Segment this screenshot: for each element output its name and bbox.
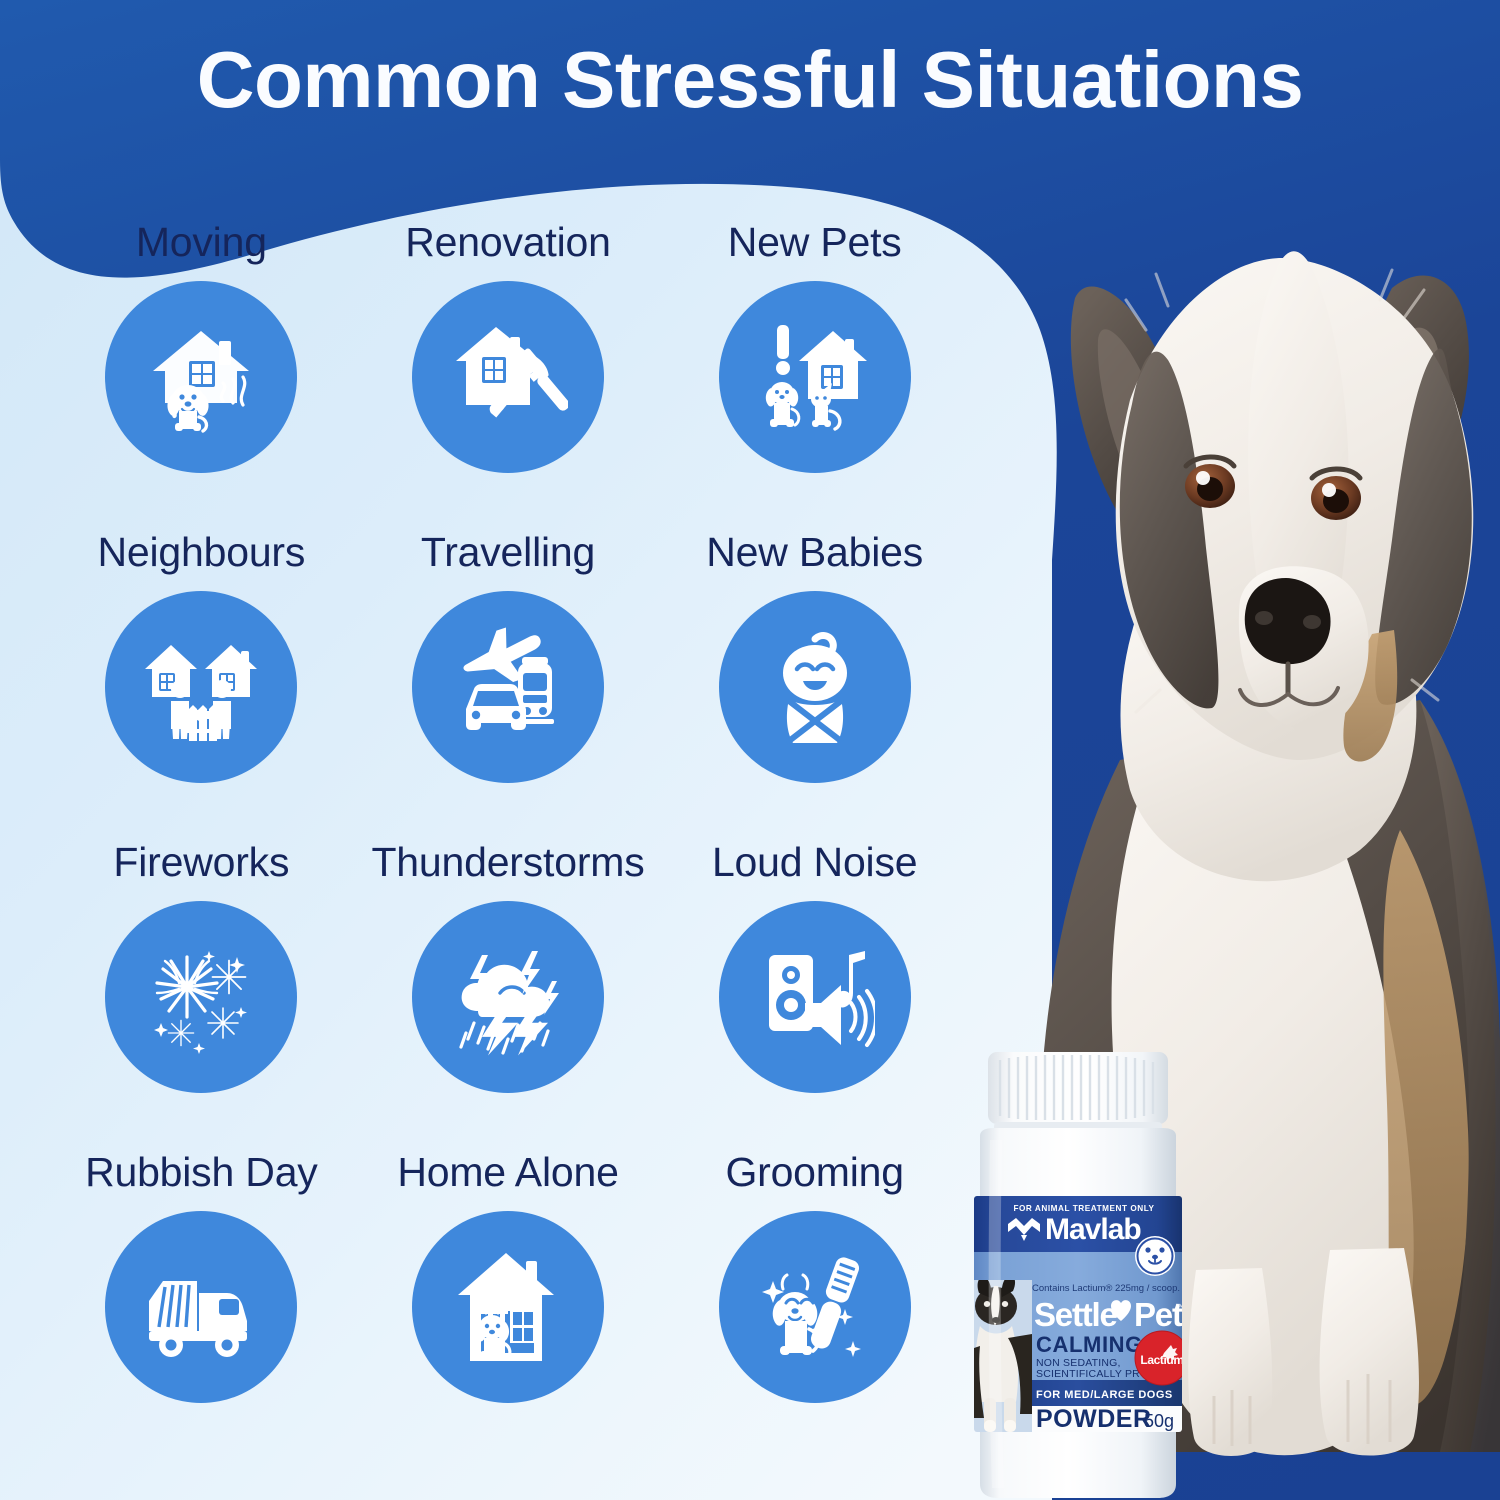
house-anxious-dog-icon — [105, 281, 297, 473]
grid-item-new-babies[interactable]: New Babies — [661, 532, 968, 842]
storm-cloud-lightning-rain-icon — [412, 901, 604, 1093]
grid-item-label: New Babies — [706, 532, 923, 573]
house-dog-cat-exclamation-icon — [719, 281, 911, 473]
brand-name: Mavlab — [1045, 1213, 1141, 1246]
lactium-badge-text: Lactium — [1140, 1353, 1183, 1367]
contains-lactium-text: Contains Lactium® 225mg / scoop. — [1032, 1283, 1180, 1294]
grid-item-moving[interactable]: Moving — [48, 222, 355, 532]
grid-item-thunderstorms[interactable]: Thunderstorms — [355, 842, 662, 1152]
dog-in-house-window-icon — [412, 1211, 604, 1403]
grid-item-label: Grooming — [725, 1152, 903, 1193]
grid-item-label: Thunderstorms — [371, 842, 644, 883]
garbage-truck-icon — [105, 1211, 297, 1403]
grid-item-label: Renovation — [405, 222, 610, 263]
infographic-stage: Common Stressful Situations Moving — [0, 0, 1500, 1500]
product-form-text: POWDER — [1036, 1405, 1152, 1433]
grid-item-label: Neighbours — [97, 532, 305, 573]
grid-item-fireworks[interactable]: Fireworks — [48, 842, 355, 1152]
grid-item-label: Home Alone — [397, 1152, 618, 1193]
fireworks-burst-icon — [105, 901, 297, 1093]
two-houses-people-fence-icon — [105, 591, 297, 783]
animal-treatment-text: FOR ANIMAL TREATMENT ONLY — [1013, 1204, 1154, 1213]
grid-item-label: Moving — [136, 222, 267, 263]
grid-item-label: Rubbish Day — [85, 1152, 318, 1193]
grid-item-label: Loud Noise — [712, 842, 917, 883]
grid-item-travelling[interactable]: Travelling — [355, 532, 662, 842]
grid-item-label: Travelling — [421, 532, 595, 573]
trademark-symbol: ™ — [1175, 1302, 1184, 1312]
grid-item-renovation[interactable]: Renovation — [355, 222, 662, 532]
lactium-badge: Lactium — [1135, 1331, 1189, 1385]
house-hammer-paintbrush-icon — [412, 281, 604, 473]
product-name-part1: Settle — [1034, 1296, 1118, 1333]
speaker-music-notes-waves-icon — [719, 901, 911, 1093]
grid-item-loud-noise[interactable]: Loud Noise — [661, 842, 968, 1152]
stressful-situations-grid: Moving — [48, 222, 968, 1462]
grid-item-grooming[interactable]: Grooming — [661, 1152, 968, 1462]
plane-train-car-icon — [412, 591, 604, 783]
grid-item-new-pets[interactable]: New Pets — [661, 222, 968, 532]
dog-brush-sparkles-icon — [719, 1211, 911, 1403]
dog-size-band-text: FOR MED/LARGE DOGS — [1036, 1389, 1173, 1401]
swaddled-baby-icon — [719, 591, 911, 783]
grid-item-home-alone[interactable]: Home Alone — [355, 1152, 662, 1462]
grid-item-rubbish-day[interactable]: Rubbish Day — [48, 1152, 355, 1462]
grid-item-neighbours[interactable]: Neighbours — [48, 532, 355, 842]
product-bottle: FOR ANIMAL TREATMENT ONLY Mavlab — [966, 1048, 1190, 1500]
grid-item-label: Fireworks — [113, 842, 289, 883]
grid-item-label: New Pets — [728, 222, 902, 263]
product-subtitle: CALMING — [1036, 1332, 1143, 1357]
product-weight-text: 50g — [1144, 1411, 1174, 1431]
dog-face-badge-icon — [1135, 1236, 1175, 1276]
